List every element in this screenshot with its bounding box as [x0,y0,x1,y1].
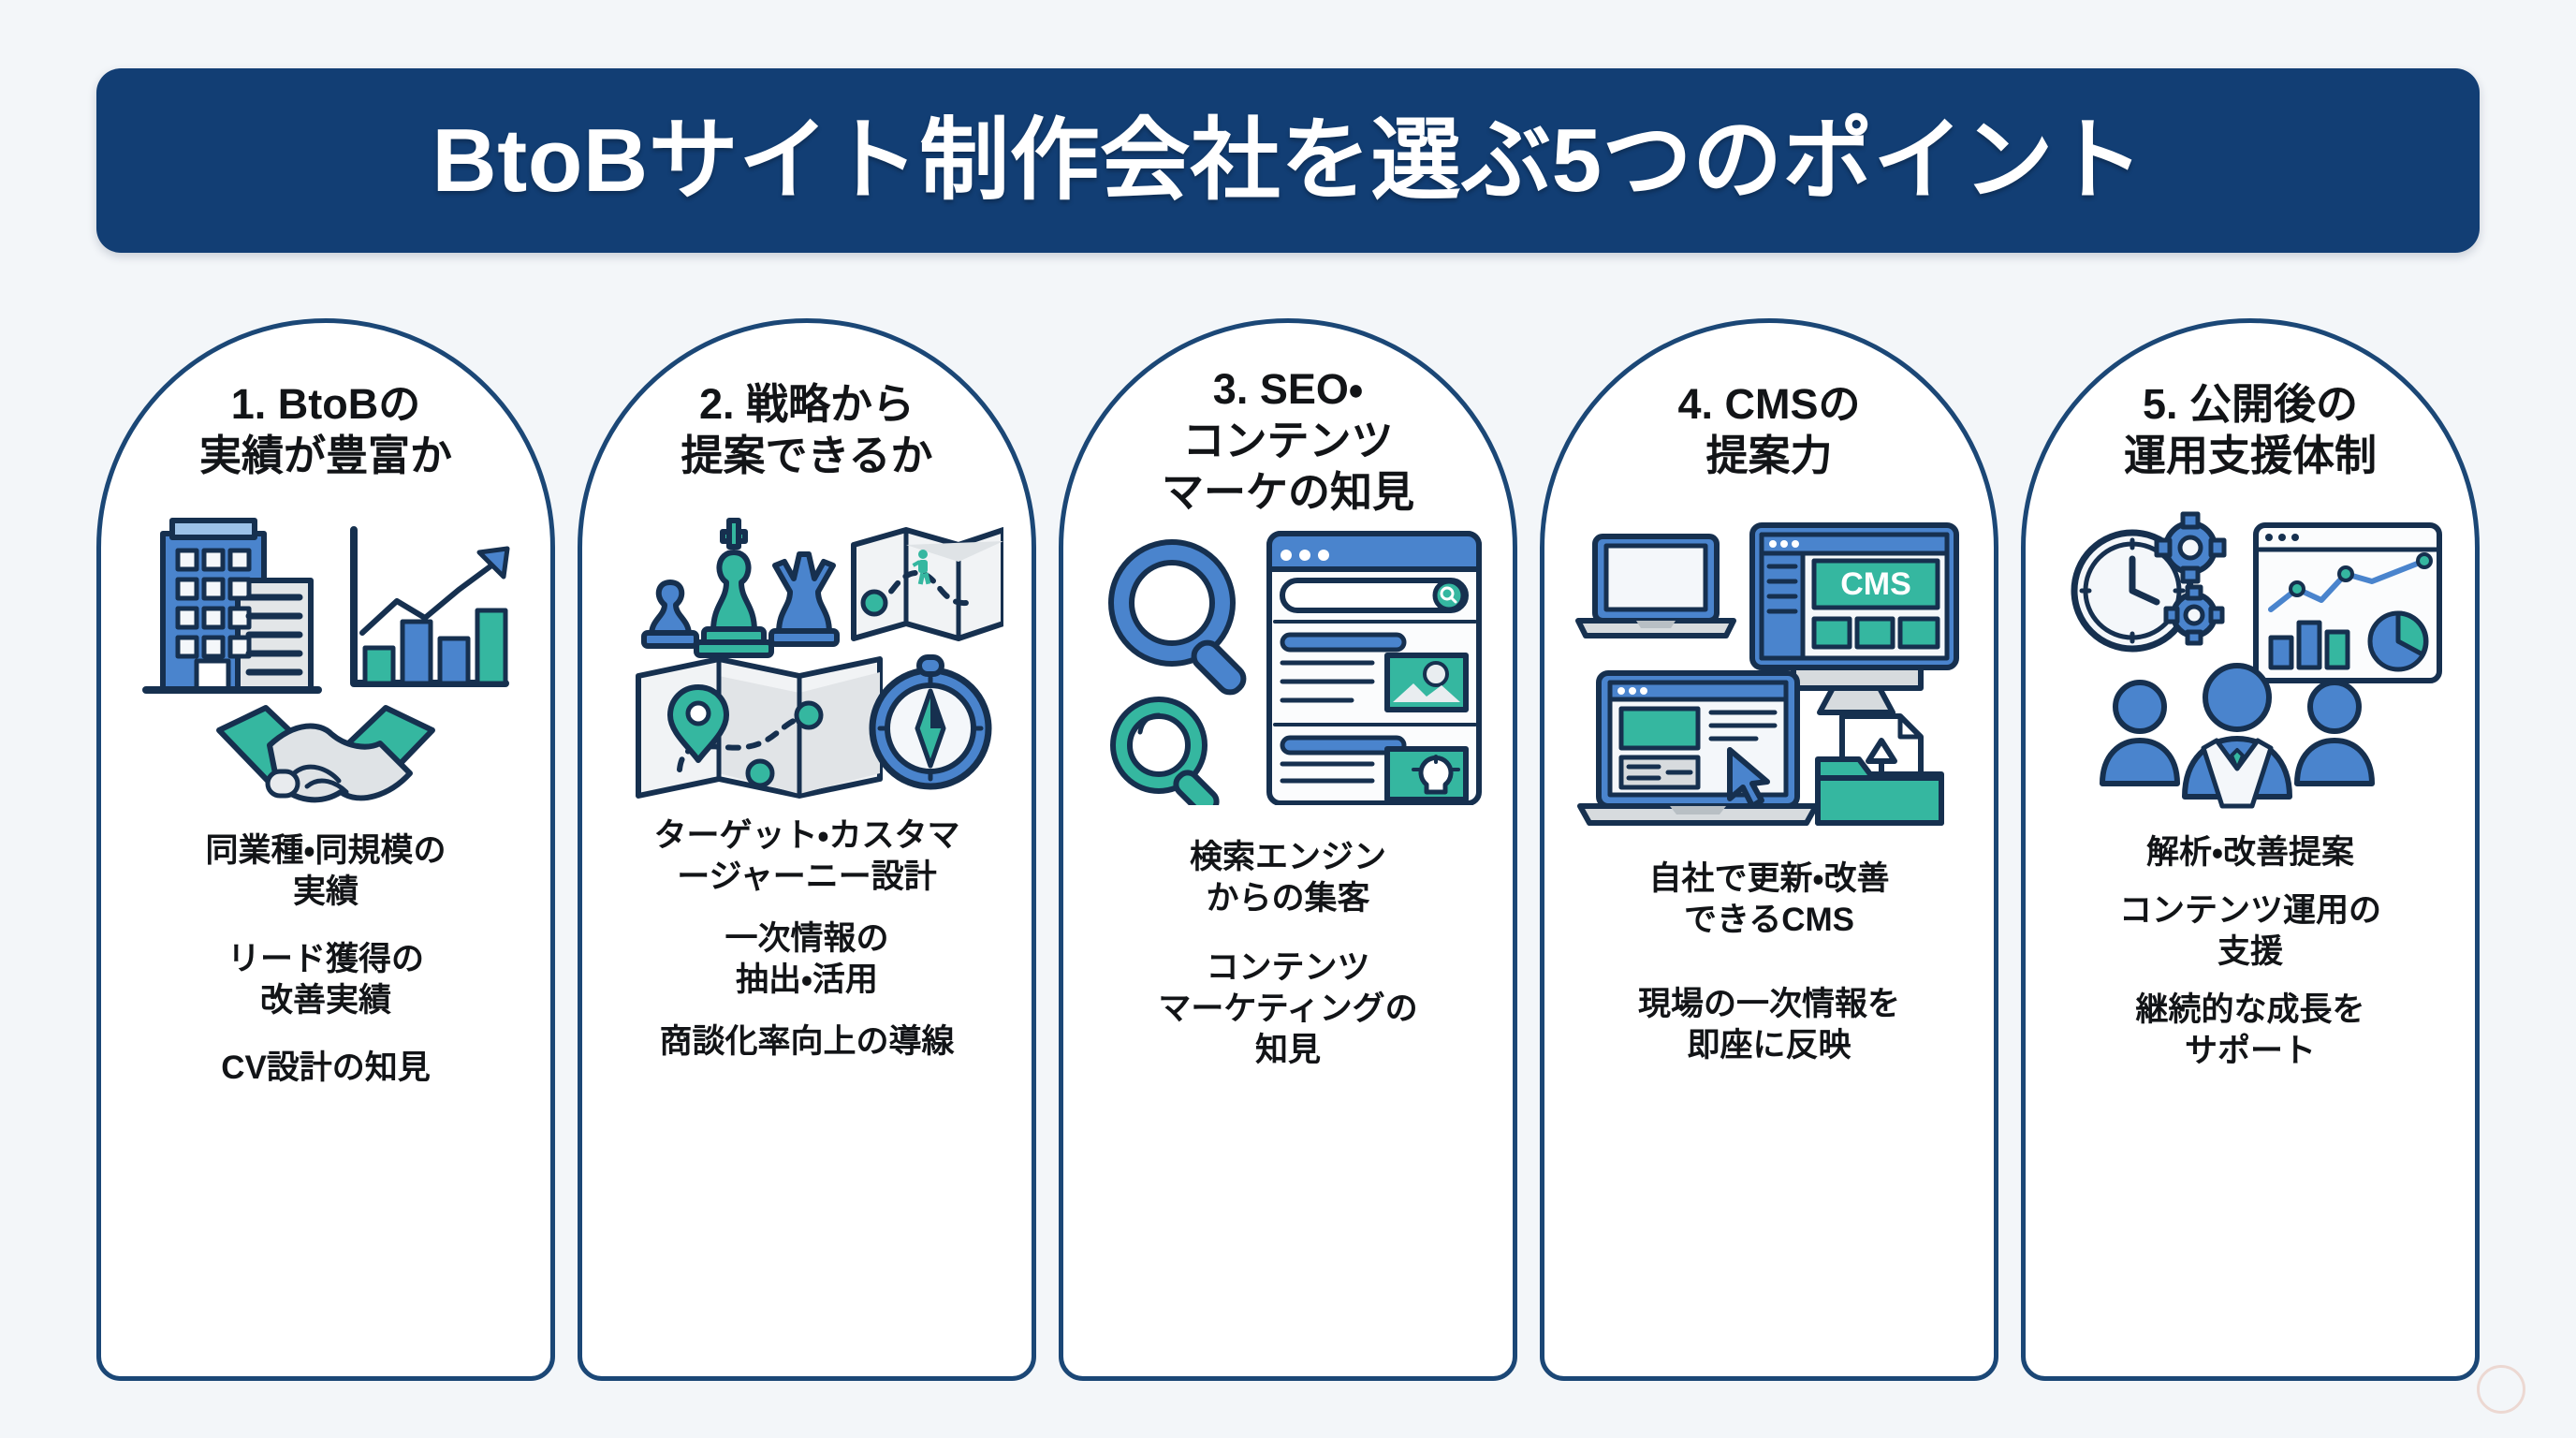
magnifier-teal-icon [1113,699,1221,805]
card-5-body-line-3: 継続的な成長を サポート [2135,990,2364,1072]
card-3-title: 3. SEO・ コンテンツ マーケの知見 [1162,364,1414,519]
card-3-illustration [1091,524,1485,805]
card-1-body-line-2: リード獲得の 改善実績 [227,939,424,1021]
card-3-icon-group [1075,524,1501,805]
card-1-body: 同業種・同規模の 実績 リード獲得の 改善実績 CV設計の知見 [112,830,539,1376]
card-2-body-line-2: 一次情報の 抽出・活用 [724,918,888,1001]
card-4-title: 4. CMSの 提案力 [1677,379,1860,482]
point-card-1[interactable]: 1. BtoBの 実績が豊富か [96,318,555,1381]
card-4-body-line-2: 現場の一次情報を 即座に反映 [1638,984,1900,1066]
watermark-circle [2477,1365,2525,1414]
card-4-body: 自社で更新・改善 できるCMS 現場の一次情報を 即座に反映 [1556,858,1983,1376]
card-5-icon-group [2037,505,2464,814]
card-1-body-line-1: 同業種・同規模の 実績 [206,830,446,913]
card-1-illustration [129,500,522,809]
clock-gear-icon [2074,514,2224,649]
magnifier-blue-icon [1111,542,1249,697]
card-1-body-line-3: CV設計の知見 [221,1048,431,1089]
laptop-blank-icon [1578,536,1734,636]
cms-screen-label: CMS [1840,566,1911,602]
card-4-illustration: CMS [1573,508,1966,827]
journey-map-icon [854,530,1003,638]
card-3-body-line-2: コンテンツ マーケティングの 知見 [1158,947,1417,1071]
point-card-2[interactable]: 2. 戦略から 提案できるか [578,318,1036,1381]
growth-bar-chart-icon [354,530,507,683]
compass-icon [872,657,988,786]
analytics-dashboard-icon [2256,525,2439,681]
point-card-4[interactable]: 4. CMSの 提案力 [1540,318,1998,1381]
card-4-body-line-1: 自社で更新・改善 できるCMS [1649,858,1890,941]
card-2-body-line-1: ターゲット・カスタマ ージャーニー設計 [654,815,960,898]
card-5-title: 5. 公開後の 運用支援体制 [2124,379,2377,482]
folded-map-icon [638,659,880,796]
card-2-body: ターゲット・カスタマ ージャーニー設計 一次情報の 抽出・活用 商談化率向上の導… [593,815,1020,1376]
card-5-illustration [2054,505,2447,814]
office-building-icon [146,521,318,690]
points-card-row: 1. BtoBの 実績が豊富か [96,318,2480,1381]
file-upload-folder-icon [1818,716,1941,823]
card-5-body: 解析・改善提案 コンテンツ運用の 支援 継続的な成長を サポート [2037,832,2464,1376]
card-2-title: 2. 戦略から 提案できるか [681,379,932,482]
card-3-body-line-1: 検索エンジン からの集客 [1190,837,1386,919]
card-3-body: 検索エンジン からの集客 コンテンツ マーケティングの 知見 [1075,837,1501,1376]
search-results-page-icon [1269,534,1479,803]
chess-pieces-icon [644,521,837,655]
point-card-5[interactable]: 5. 公開後の 運用支援体制 [2021,318,2480,1381]
card-2-icon-group [593,492,1020,802]
laptop-editor-icon [1580,673,1816,823]
header-banner: BtoBサイト制作会社を選ぶ5つのポイント [96,68,2480,253]
card-5-body-line-1: 解析・改善提案 [2146,832,2354,873]
page-title: BtoBサイト制作会社を選ぶ5つのポイント [432,116,2144,206]
card-2-illustration [610,492,1003,801]
infographic-page: BtoBサイト制作会社を選ぶ5つのポイント 1. BtoBの 実績が豊富か [0,0,2576,1438]
handshake-icon [219,708,432,800]
support-team-icon [2102,666,2372,806]
card-2-body-line-3: 商談化率向上の導線 [659,1021,954,1063]
point-card-3[interactable]: 3. SEO・ コンテンツ マーケの知見 [1059,318,1517,1381]
card-1-icon-group [112,499,539,810]
card-5-body-line-2: コンテンツ運用の 支援 [2119,890,2381,973]
card-4-icon-group: CMS [1556,508,1983,827]
card-1-title: 1. BtoBの 実績が豊富か [199,379,452,482]
